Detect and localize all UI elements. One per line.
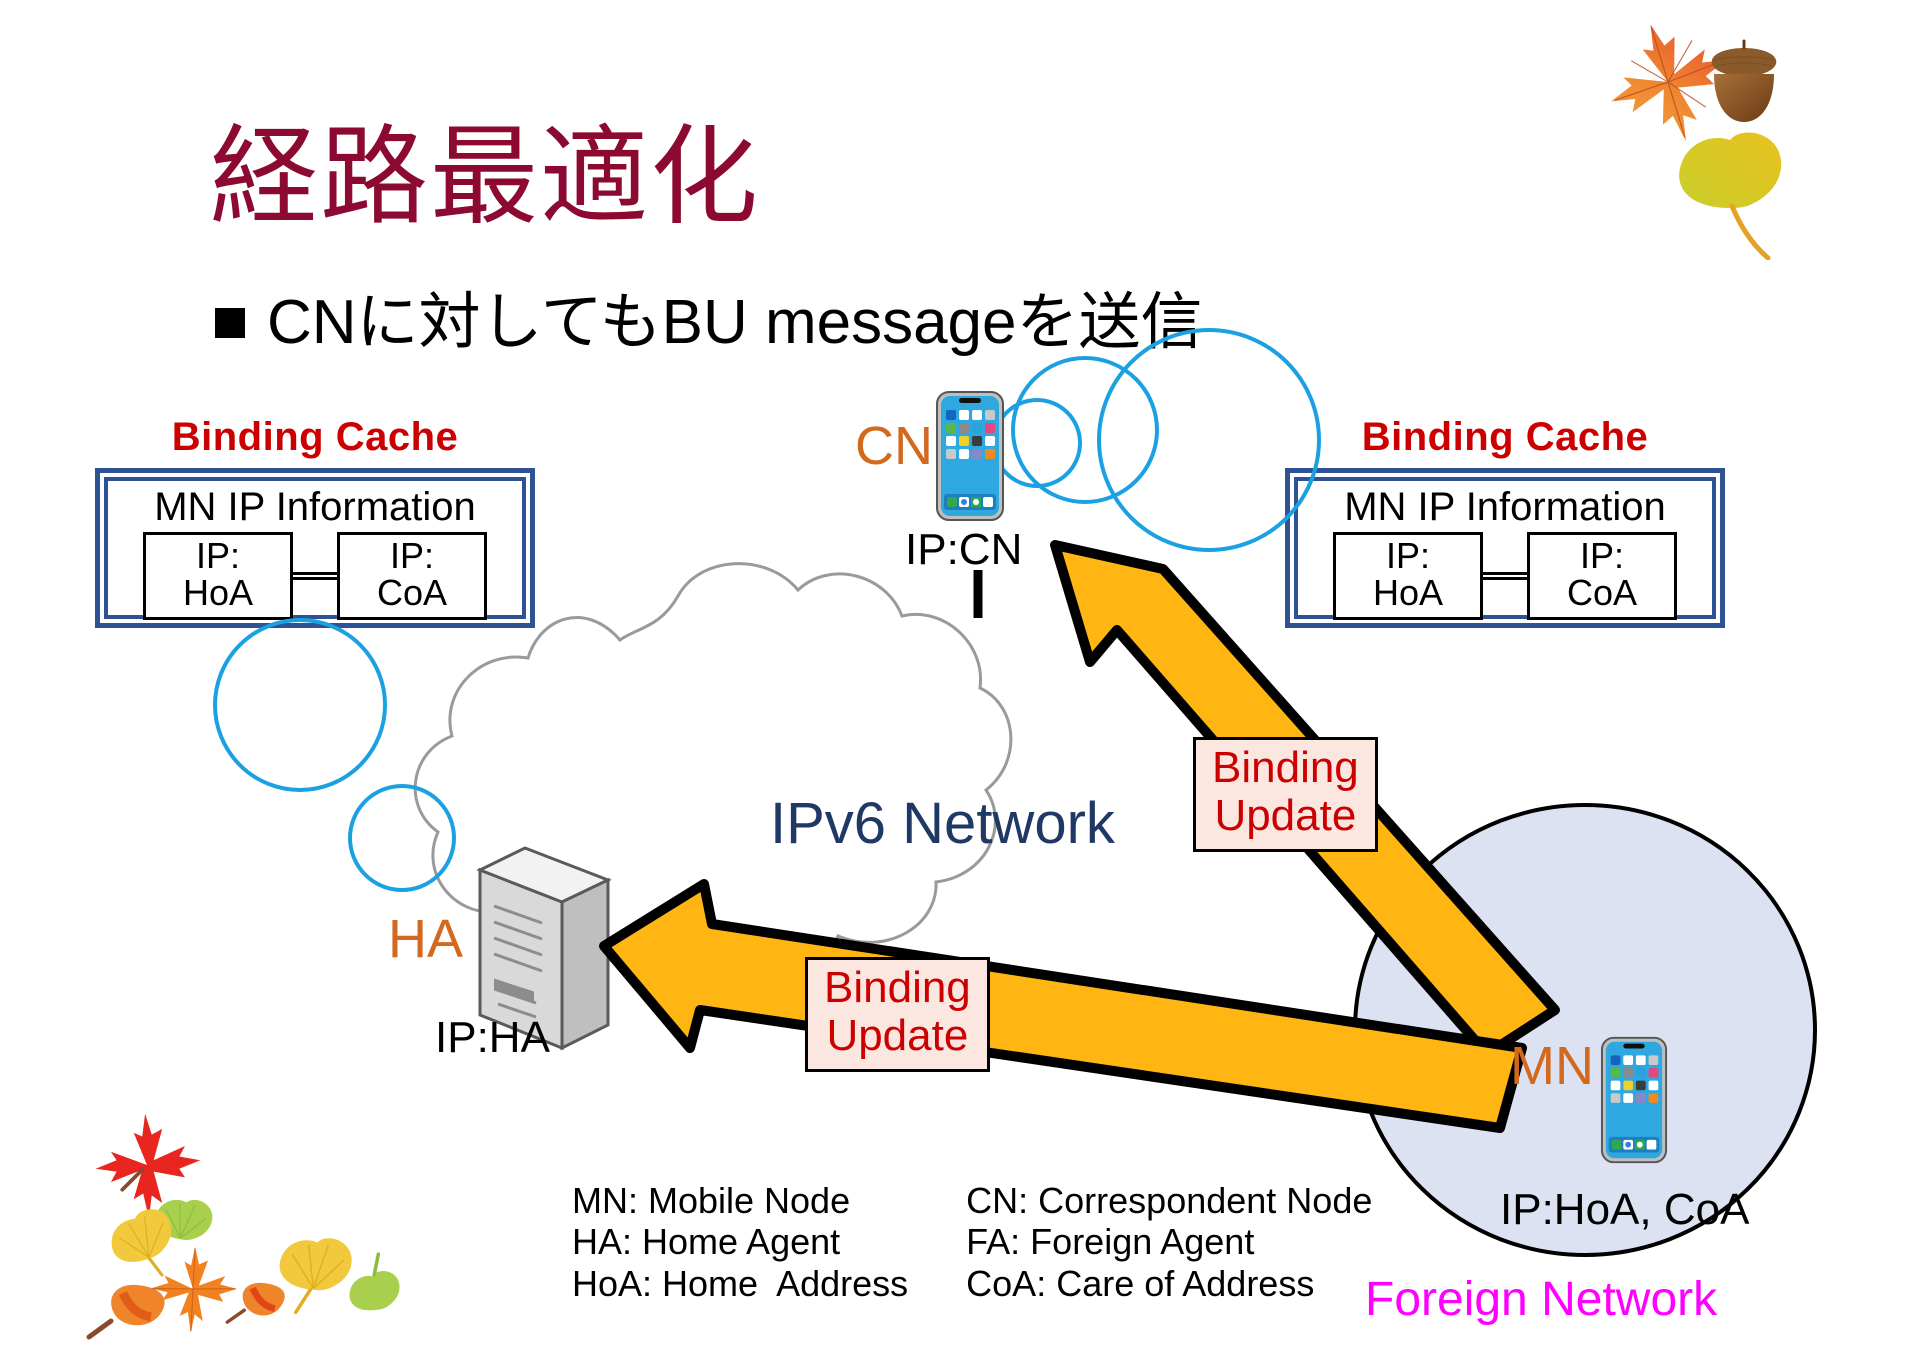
- legend-item-cn: CN: Correspondent Node: [966, 1180, 1372, 1221]
- legend-item-ha: HA: Home Agent: [572, 1221, 908, 1262]
- binding-update-line2: Update: [1212, 792, 1359, 840]
- binding-update-callout-ha: Binding Update: [805, 957, 990, 1072]
- ipv6-network-label: IPv6 Network: [770, 790, 1115, 857]
- mn-phone-icon: [1600, 1035, 1668, 1165]
- cn-phone-icon: [935, 390, 1005, 522]
- binding-update-callout-cn: Binding Update: [1193, 737, 1378, 852]
- legend-column-left: MN: Mobile Node HA: Home Agent HoA: Home…: [572, 1180, 908, 1304]
- signal-circle-cn-mid: [1013, 358, 1157, 502]
- legend: MN: Mobile Node HA: Home Agent HoA: Home…: [572, 1180, 1372, 1304]
- signal-circle-cn-small: [994, 400, 1080, 486]
- legend-column-right: CN: Correspondent Node FA: Foreign Agent…: [966, 1180, 1372, 1304]
- cn-label: CN: [855, 415, 933, 477]
- ha-label: HA: [388, 908, 463, 970]
- binding-update-line2: Update: [824, 1012, 971, 1060]
- legend-item-coa: CoA: Care of Address: [966, 1263, 1372, 1304]
- binding-update-line1: Binding: [1212, 744, 1359, 792]
- legend-item-hoa: HoA: Home Address: [572, 1263, 908, 1304]
- autumn-leaves-cluster-decoration: [75, 1105, 415, 1355]
- binding-update-line1: Binding: [824, 964, 971, 1012]
- slide-canvas: 経路最適化 CNに対してもBU messageを送信 Binding Cache…: [0, 0, 1920, 1358]
- mn-ip-label: IP:HoA, CoA: [1500, 1185, 1749, 1235]
- signal-circle-ha-small: [350, 786, 454, 890]
- cn-ip-label: IP:CN: [905, 525, 1022, 575]
- legend-item-fa: FA: Foreign Agent: [966, 1221, 1372, 1262]
- legend-item-mn: MN: Mobile Node: [572, 1180, 908, 1221]
- ha-ip-label: IP:HA: [435, 1013, 550, 1063]
- foreign-network-label: Foreign Network: [1365, 1272, 1717, 1327]
- mn-label: MN: [1510, 1035, 1594, 1097]
- signal-circle-cn-large: [1099, 330, 1319, 550]
- signal-circle-ha-large: [215, 620, 385, 790]
